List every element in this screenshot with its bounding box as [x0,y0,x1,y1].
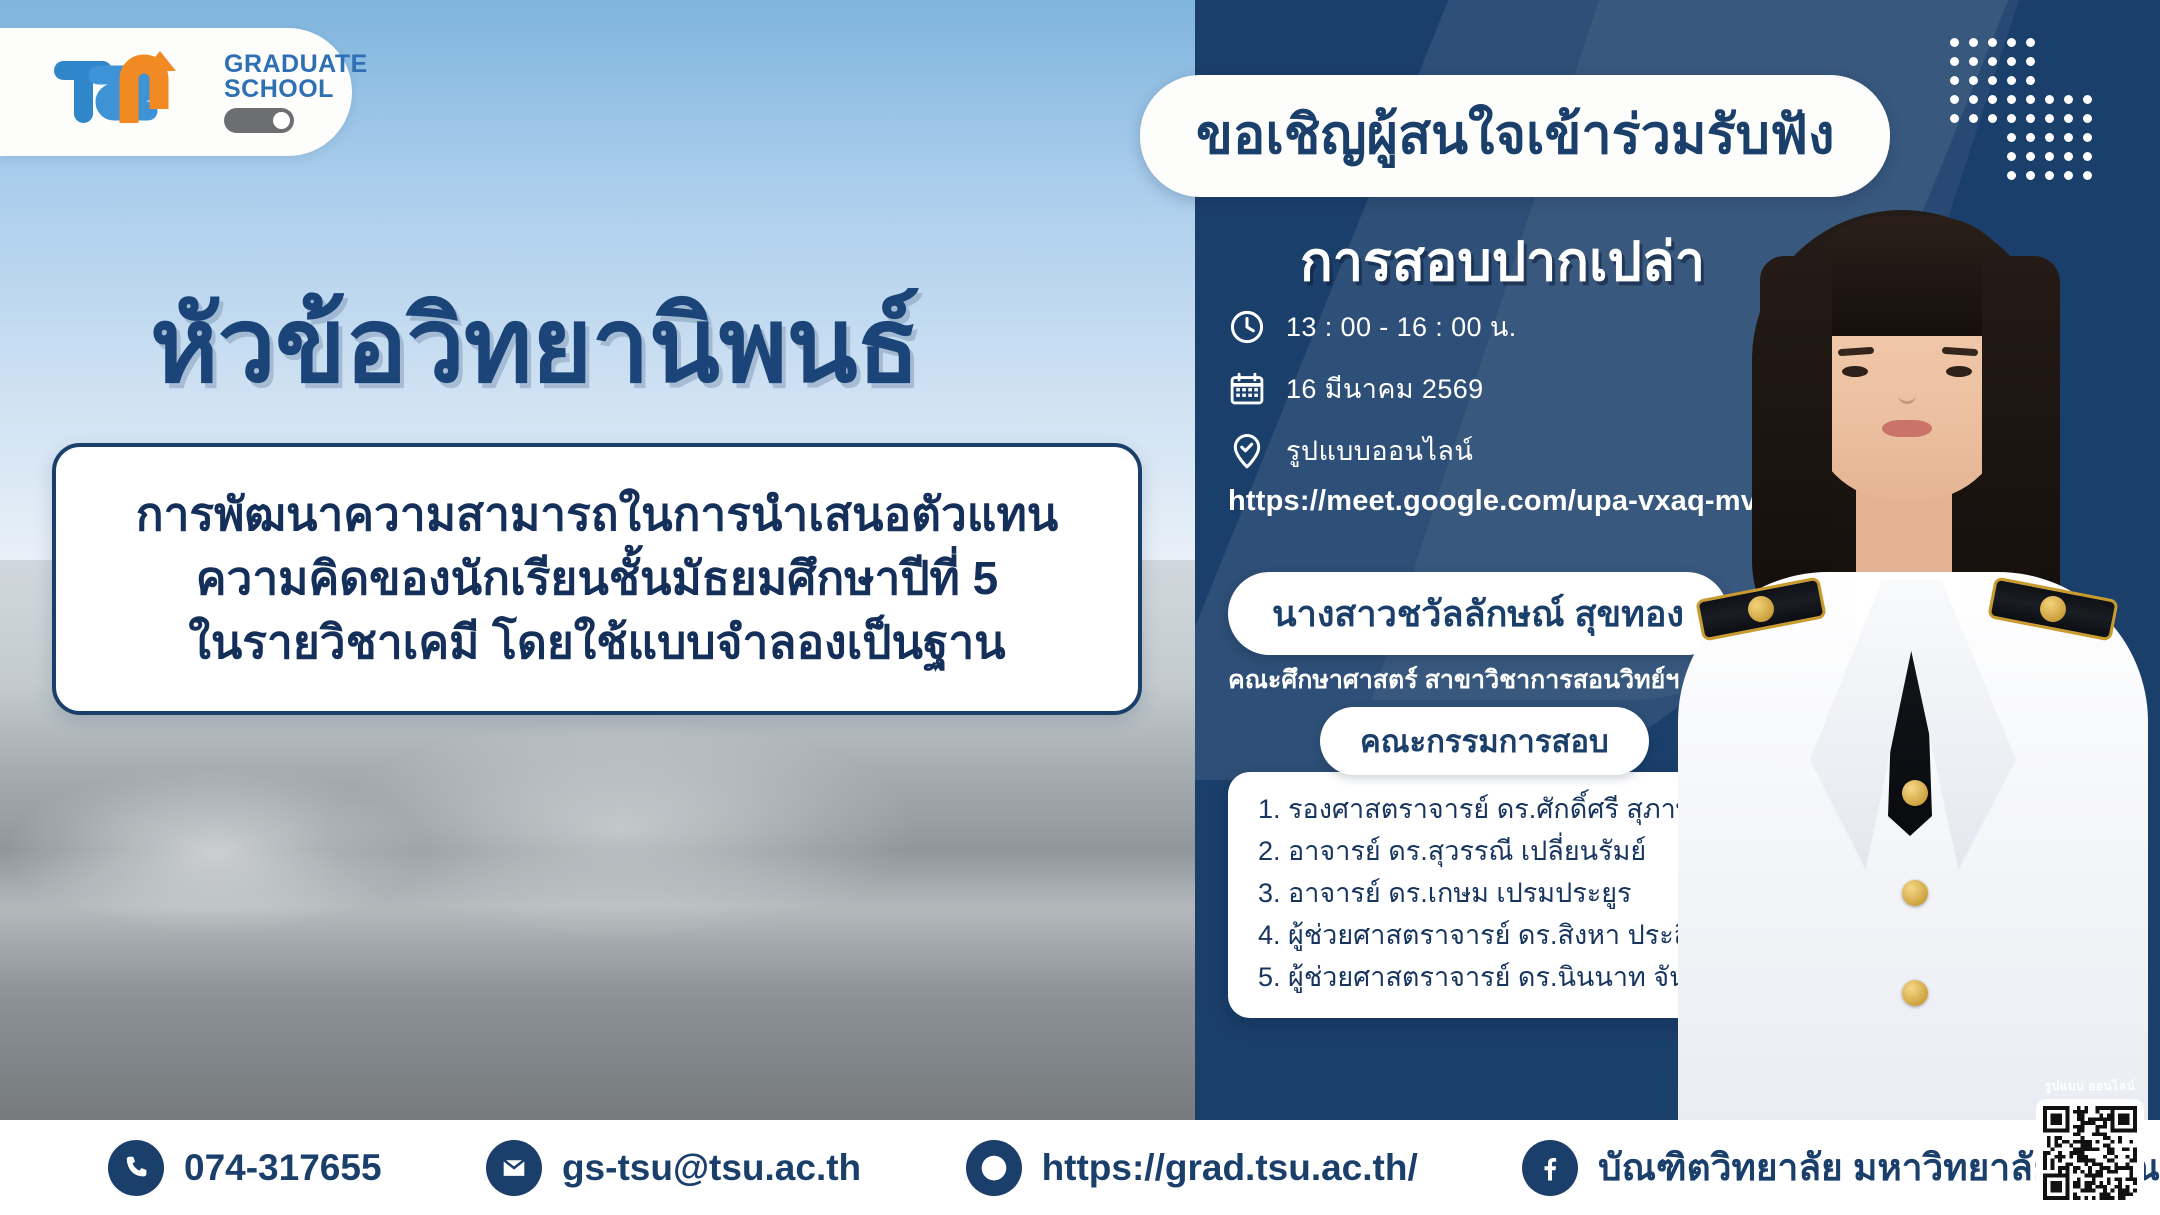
email-address: gs-tsu@tsu.ac.th [562,1147,861,1189]
logo-line-school: SCHOOL [224,77,368,102]
info-row-format: รูปแบบออนไลน์ [1228,429,1517,472]
tsu-graduate-school-logo: GRADUATE SCHOOL [0,28,352,156]
tsu-logo-mark [50,49,210,135]
info-row-time: 13 : 00 - 16 : 00 น. [1228,305,1517,348]
phone-number: 074-317655 [184,1147,382,1189]
committee-header-badge: คณะกรรมการสอบ [1320,707,1649,775]
footer-phone[interactable]: 074-317655 [108,1140,382,1196]
globe-icon [966,1140,1022,1196]
facebook-icon [1522,1140,1578,1196]
student-portrait [1660,180,2160,1120]
info-row-date: 16 มีนาคม 2569 [1228,367,1517,410]
email-icon [486,1140,542,1196]
qr-code[interactable] [2036,1099,2144,1207]
thesis-title-line-1: การพัฒนาความสามารถในการนำเสนอตัวแทน [136,485,1058,545]
uniform-button [1902,980,1928,1006]
qr-code-block: รูปแบบ ออนไลน์ [2036,1077,2144,1207]
logo-wordmark: GRADUATE SCHOOL [224,52,368,133]
student-name-badge: นางสาวชวัลลักษณ์ สุขทอง [1228,572,1728,655]
footer-website[interactable]: https://grad.tsu.ac.th/ [966,1140,1418,1196]
event-date: 16 มีนาคม 2569 [1286,367,1484,410]
student-name: นางสาวชวัลลักษณ์ สุขทอง [1272,593,1684,634]
eye [1946,366,1972,377]
footer-email[interactable]: gs-tsu@tsu.ac.th [486,1140,861,1196]
committee-label: คณะกรรมการสอบ [1360,724,1609,759]
logo-line-graduate: GRADUATE [224,52,368,77]
nose [1898,378,1916,404]
calendar-icon [1228,370,1266,408]
uniform-button [1902,780,1928,806]
thesis-title-box: การพัฒนาความสามารถในการนำเสนอตัวแทน ความ… [52,443,1142,715]
phone-icon [108,1140,164,1196]
lips [1882,420,1932,437]
qr-code-label: รูปแบบ ออนไลน์ [2036,1077,2144,1096]
location-pin-check-icon [1228,432,1266,470]
contact-footer: 074-317655 gs-tsu@tsu.ac.th https://grad… [0,1120,2160,1215]
website-url: https://grad.tsu.ac.th/ [1042,1147,1418,1189]
thesis-title-line-3: ในรายวิชาเคมี โดยใช้แบบจำลองเป็นฐาน [188,613,1005,673]
dot-grid-decoration [1950,38,2102,193]
page-title: หัวข้อวิทยานิพนธ์ [150,262,919,427]
invitation-banner: ขอเชิญผู้สนใจเข้าร่วมรับฟัง [1140,75,1890,197]
toggle-icon [224,108,294,133]
event-time: 13 : 00 - 16 : 00 น. [1286,305,1517,348]
event-format: รูปแบบออนไลน์ [1286,429,1473,472]
invitation-label: ขอเชิญผู้สนใจเข้าร่วมรับฟัง [1196,105,1834,165]
faculty-department: คณะศึกษาศาสตร์ สาขาวิชาการสอนวิทย์ฯ [1228,660,1658,700]
uniform-button [1902,880,1928,906]
eye [1842,366,1868,377]
poster-root: GRADUATE SCHOOL หัวข้อวิทยานิพนธ์ การพัฒ… [0,0,2160,1215]
thesis-title-line-2: ความคิดของนักเรียนชั้นมัธยมศึกษาปีที่ 5 [196,549,998,609]
event-info-list: 13 : 00 - 16 : 00 น. 16 มีนาคม 2569 [1228,305,1517,472]
exam-type-heading: การสอบปากเปล่า [1300,218,1705,304]
clock-icon [1228,308,1266,346]
